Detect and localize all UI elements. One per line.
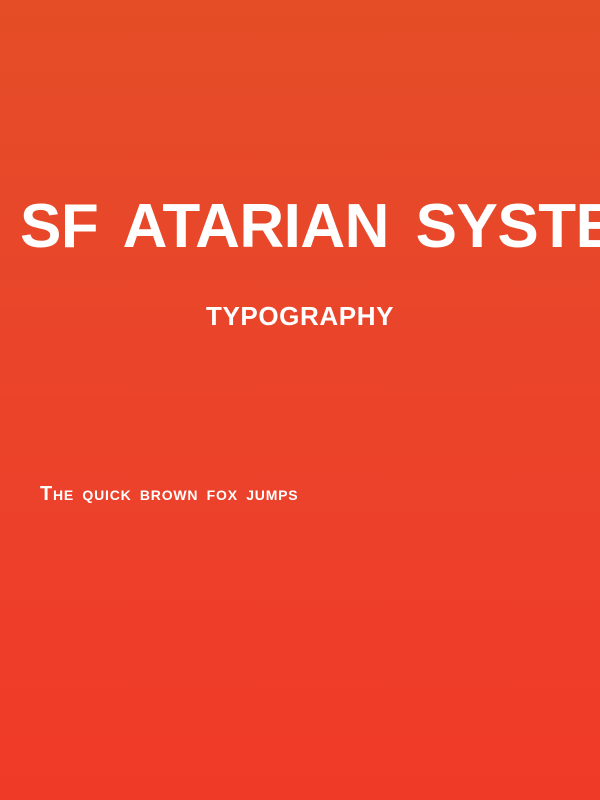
headline-clip-region: SF ATARIAN SYSTEM bbox=[0, 196, 600, 262]
pangram-sample-text: The quick brown fox jumps bbox=[40, 484, 298, 504]
font-name-headline: SF ATARIAN SYSTEM bbox=[0, 196, 600, 258]
font-specimen-card: SF ATARIAN SYSTEM TYPOGRAPHY The quick b… bbox=[0, 0, 600, 800]
specimen-subtitle: TYPOGRAPHY bbox=[0, 303, 600, 329]
